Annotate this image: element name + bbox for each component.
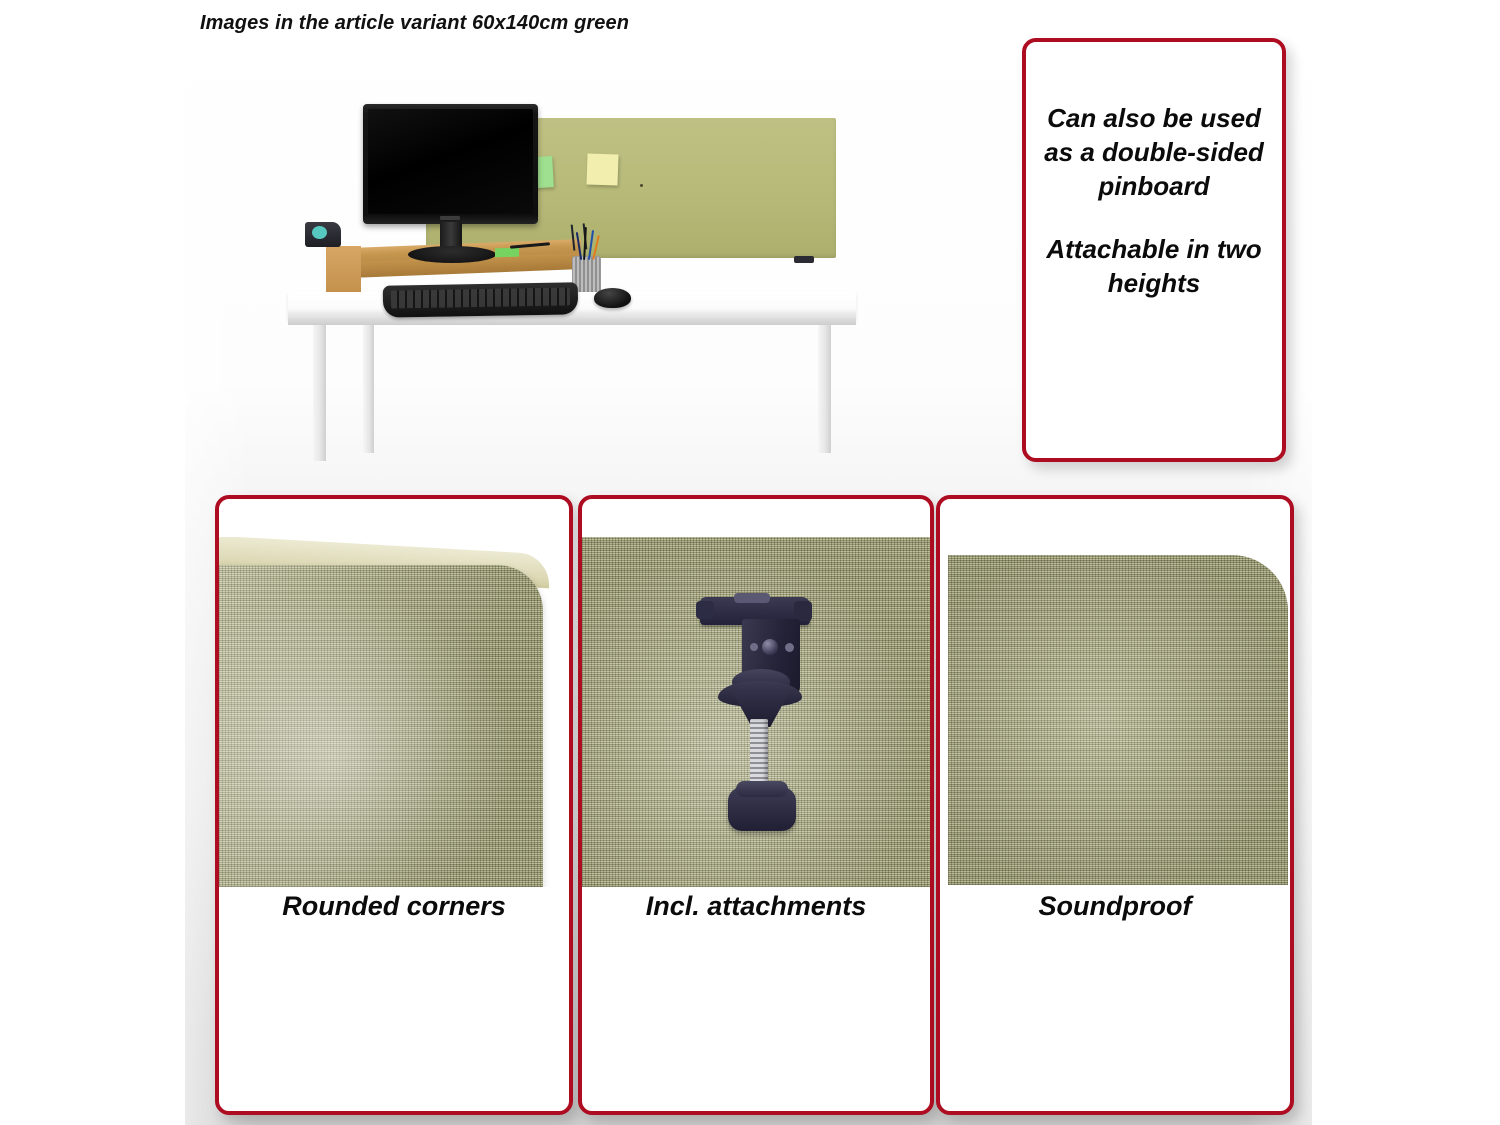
tape-roll <box>312 226 327 239</box>
mouse <box>594 288 631 308</box>
fabric-swatch <box>948 555 1288 885</box>
clamp-rivet-icon <box>750 643 758 651</box>
feature-card-soundproof: Soundproof <box>936 495 1294 1115</box>
monitor-logo <box>440 216 460 220</box>
panel-slab <box>219 565 543 887</box>
page-stage: Images in the article variant 60x140cm g… <box>0 0 1500 1125</box>
feature-caption-rounded-corners: Rounded corners <box>219 891 569 922</box>
desk-leg <box>313 325 326 461</box>
fabric-sheen <box>219 565 543 887</box>
desk-leg <box>818 325 831 453</box>
hero-product-photo <box>288 96 856 464</box>
clamp-rivet-icon <box>785 643 794 652</box>
feature-card-rounded-corners: Rounded corners <box>215 495 573 1115</box>
feature-photo-clamp <box>582 537 930 887</box>
feature-card-attachments: Incl. attachments <box>578 495 934 1115</box>
feature-photo-rounded-corner <box>219 537 569 887</box>
monitor-stand-base <box>408 246 496 263</box>
desk-leg <box>363 325 374 453</box>
desk-clamp <box>690 591 830 846</box>
pen <box>592 235 600 260</box>
clamp-screw-icon <box>762 639 778 655</box>
monitor-screen <box>368 109 533 214</box>
feature-photo-fabric <box>940 537 1290 887</box>
clamp-jaw-notch <box>734 593 770 603</box>
pen-cup-contents <box>572 224 602 258</box>
clamp-hand-wheel <box>728 787 796 831</box>
feature-caption-soundproof: Soundproof <box>940 891 1290 922</box>
feature-caption-attachments: Incl. attachments <box>582 891 930 922</box>
claim-box: Can also be used as a double-sided pinbo… <box>1022 38 1286 462</box>
claim-line-1: Can also be used as a double-sided pinbo… <box>1044 103 1264 201</box>
panel-pinhole-icon <box>640 184 643 187</box>
clamp-jaw-left-tab <box>696 601 714 619</box>
panel-clip <box>794 256 814 263</box>
claim-text: Can also be used as a double-sided pinbo… <box>1026 102 1282 301</box>
page-title: Images in the article variant 60x140cm g… <box>200 12 629 35</box>
claim-line-2: Attachable in two heights <box>1038 233 1270 301</box>
keyboard <box>383 282 579 317</box>
sticky-note-yellow <box>586 153 618 185</box>
clamp-jaw-right-tab <box>794 601 812 621</box>
desk-edge <box>288 318 856 325</box>
fabric-sheen <box>948 555 1288 885</box>
riser-sticky-note <box>495 248 519 258</box>
